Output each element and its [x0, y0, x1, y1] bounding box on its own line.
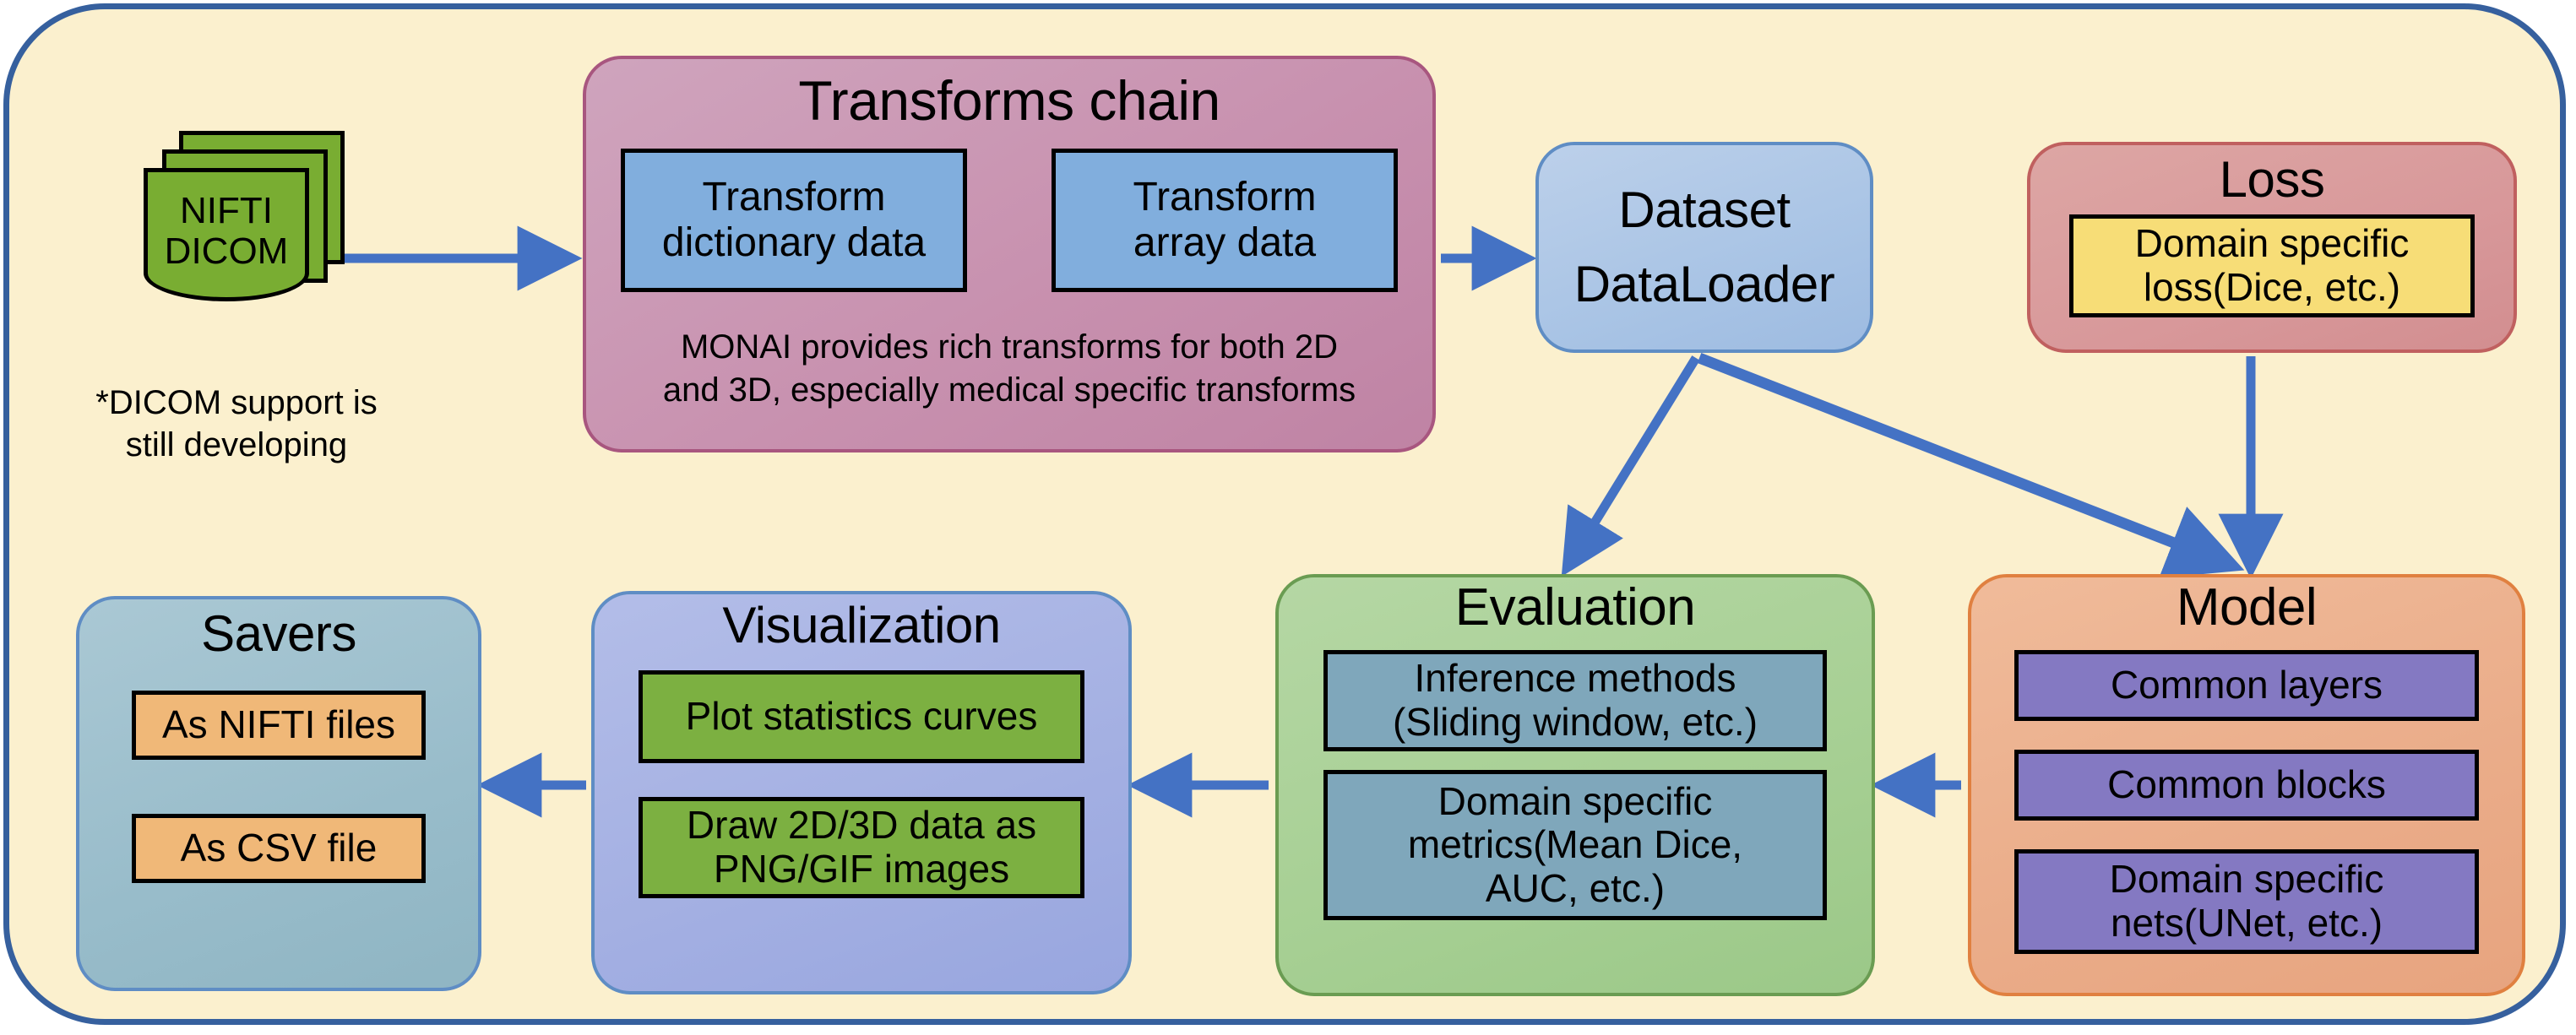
evaluation-box[interactable]: Evaluation Inference methods (Sliding wi… — [1275, 574, 1875, 996]
visualization-box[interactable]: Visualization Plot statistics curves Dra… — [591, 591, 1132, 994]
nifti-dicom-stack: NIFTI DICOM — [144, 131, 329, 291]
visualization-title: Visualization — [722, 599, 1000, 652]
savers-title: Savers — [201, 608, 356, 660]
transforms-item-row: Transform dictionary data Transform arra… — [621, 149, 1398, 292]
common-layers-item[interactable]: Common layers — [2014, 650, 2479, 721]
plot-statistics-curves-item[interactable]: Plot statistics curves — [639, 670, 1084, 763]
transforms-chain-title: Transforms chain — [798, 73, 1220, 130]
model-title: Model — [2177, 581, 2317, 635]
common-blocks-item[interactable]: Common blocks — [2014, 750, 2479, 821]
domain-specific-loss-item[interactable]: Domain specific loss(Dice, etc.) — [2069, 214, 2475, 317]
inference-methods-item[interactable]: Inference methods (Sliding window, etc.) — [1323, 650, 1827, 751]
save-as-csv-file-item[interactable]: As CSV file — [132, 814, 426, 883]
model-box[interactable]: Model Common layers Common blocks Domain… — [1968, 574, 2525, 996]
transforms-chain-note: MONAI provides rich transforms for both … — [621, 326, 1398, 412]
diagram-canvas: NIFTI DICOM *DICOM support is still deve… — [0, 0, 2576, 1035]
savers-box[interactable]: Savers As NIFTI files As CSV file — [76, 596, 481, 991]
save-as-nifti-files-item[interactable]: As NIFTI files — [132, 691, 426, 760]
evaluation-title: Evaluation — [1455, 581, 1696, 635]
transform-dictionary-data-item[interactable]: Transform dictionary data — [621, 149, 967, 292]
transforms-chain-box[interactable]: Transforms chain Transform dictionary da… — [583, 56, 1436, 452]
dataloader-title: DataLoader — [1574, 258, 1835, 311]
dataset-title: Dataset — [1618, 184, 1790, 236]
nifti-dicom-label: NIFTI DICOM — [165, 191, 289, 273]
dataset-dataloader-box[interactable]: Dataset DataLoader — [1535, 142, 1873, 353]
loss-title: Loss — [2220, 154, 2325, 206]
loss-box[interactable]: Loss Domain specific loss(Dice, etc.) — [2027, 142, 2517, 353]
draw-2d-3d-data-item[interactable]: Draw 2D/3D data as PNG/GIF images — [639, 797, 1084, 898]
dicom-support-note: *DICOM support is still developing — [68, 382, 405, 466]
document-page-front: NIFTI DICOM — [144, 168, 309, 301]
domain-specific-metrics-item[interactable]: Domain specific metrics(Mean Dice, AUC, … — [1323, 770, 1827, 920]
transform-array-data-item[interactable]: Transform array data — [1052, 149, 1398, 292]
domain-specific-nets-item[interactable]: Domain specific nets(UNet, etc.) — [2014, 849, 2479, 954]
